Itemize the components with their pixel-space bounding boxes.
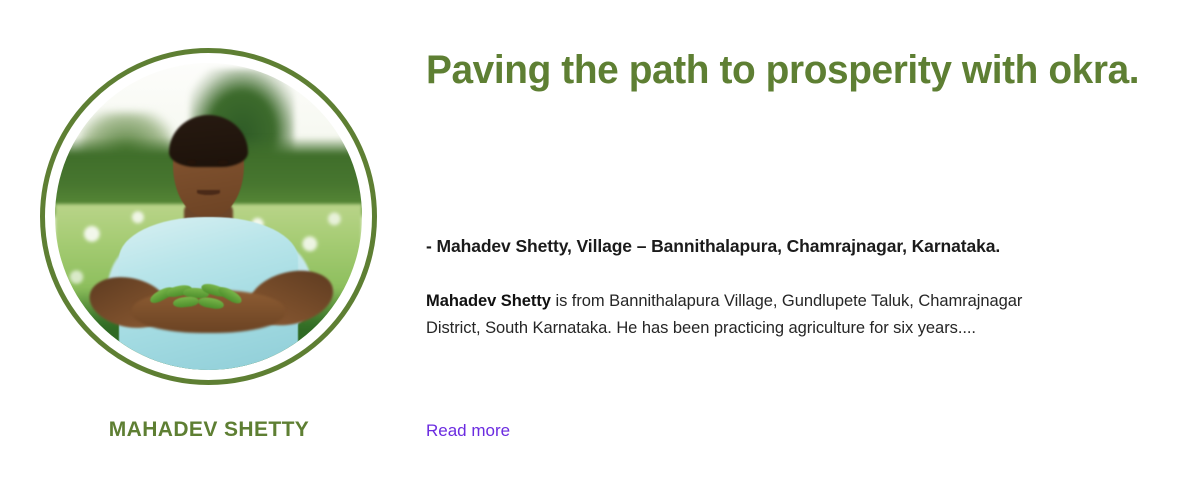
portrait-ring [40,48,377,385]
photo-eye-right [218,160,227,166]
story-excerpt: Mahadev Shetty is from Bannithalapura Vi… [426,288,1046,341]
portrait-column: MAHADEV SHETTY [0,0,418,500]
farmer-portrait-photo [55,63,362,370]
read-more-link[interactable]: Read more [426,421,510,441]
page-title: Paving the path to prosperity with okra. [426,48,1175,92]
content-column: Paving the path to prosperity with okra.… [426,0,1200,500]
attribution-line: - Mahadev Shetty, Village – Bannithalapu… [426,236,1000,257]
excerpt-lead-name: Mahadev Shetty [426,292,551,310]
testimonial-card: MAHADEV SHETTY Paving the path to prospe… [0,0,1200,500]
portrait-clip [55,63,362,370]
photo-okra-pods [147,284,264,315]
portrait-caption: MAHADEV SHETTY [0,418,418,442]
